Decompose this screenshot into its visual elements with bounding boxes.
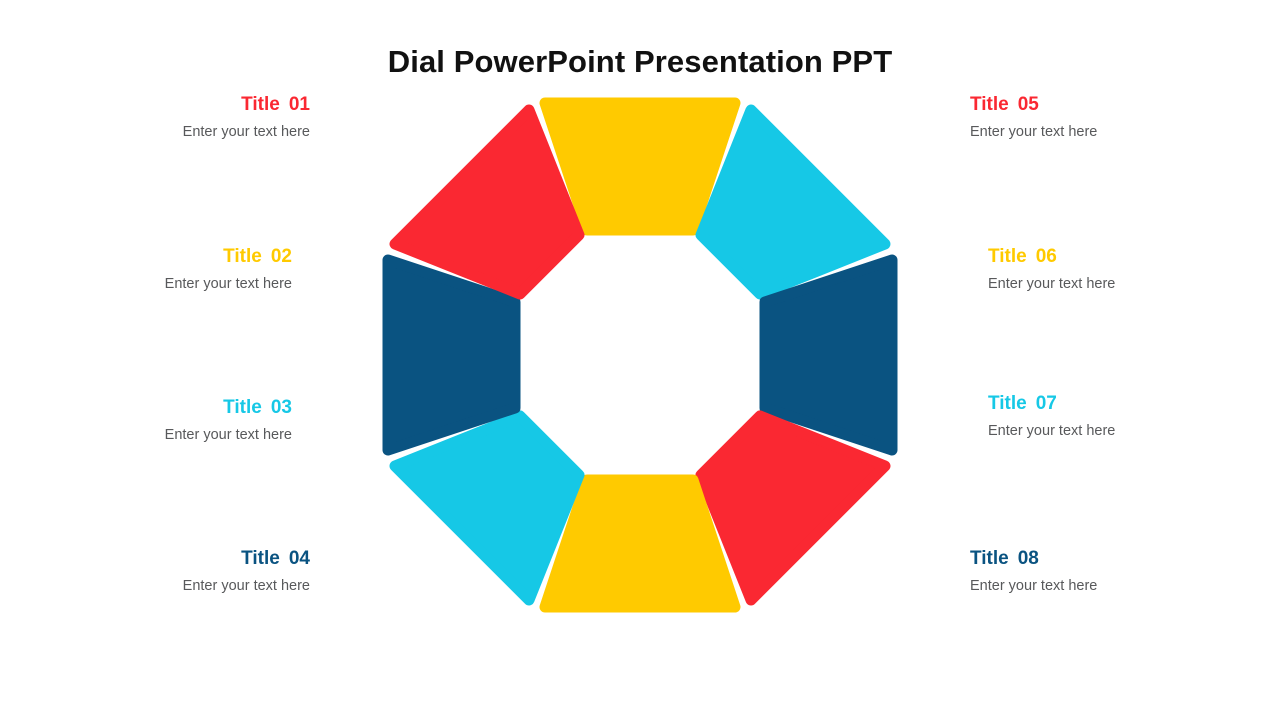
callout-title-06-text: Enter your text here (988, 277, 1278, 292)
callout-title-05[interactable]: Title05 Enter your text here (970, 95, 1260, 140)
callout-title-08-number: 08 (1018, 548, 1039, 569)
presentation-slide: Dial PowerPoint Presentation PPT (0, 0, 1280, 720)
callout-title-07-text: Enter your text here (988, 424, 1278, 439)
callout-title-06-heading: Title06 (988, 247, 1278, 266)
callout-title-05-text: Enter your text here (970, 125, 1260, 140)
callout-title-01-heading: Title01 (20, 95, 310, 114)
callout-title-07-number: 07 (1036, 393, 1057, 414)
callout-title-06-number: 06 (1036, 246, 1057, 267)
callout-title-01-number: 01 (289, 94, 310, 115)
callout-title-08-text: Enter your text here (970, 579, 1260, 594)
callout-title-02-number: 02 (271, 246, 292, 267)
dial-segments (388, 103, 892, 607)
callout-title-08-word: Title (970, 548, 1009, 569)
callout-title-06[interactable]: Title06 Enter your text here (988, 247, 1278, 292)
callout-title-02-heading: Title02 (2, 247, 292, 266)
callout-title-02[interactable]: Title02 Enter your text here (2, 247, 292, 292)
callout-title-01-text: Enter your text here (20, 125, 310, 140)
page-title: Dial PowerPoint Presentation PPT (0, 44, 1280, 80)
callout-title-03-number: 03 (271, 397, 292, 418)
callout-title-08[interactable]: Title08 Enter your text here (970, 549, 1260, 594)
callout-title-01[interactable]: Title01 Enter your text here (20, 95, 310, 140)
callout-title-05-word: Title (970, 94, 1009, 115)
callout-title-05-heading: Title05 (970, 95, 1260, 114)
callout-title-07-heading: Title07 (988, 394, 1278, 413)
callout-title-02-word: Title (223, 246, 262, 267)
callout-title-04-number: 04 (289, 548, 310, 569)
callout-title-01-word: Title (241, 94, 280, 115)
callout-title-03-word: Title (223, 397, 262, 418)
callout-title-04-word: Title (241, 548, 280, 569)
callout-title-03-heading: Title03 (2, 398, 292, 417)
callout-title-08-heading: Title08 (970, 549, 1260, 568)
callout-title-07[interactable]: Title07 Enter your text here (988, 394, 1278, 439)
callout-title-04-text: Enter your text here (20, 579, 310, 594)
callout-title-05-number: 05 (1018, 94, 1039, 115)
callout-title-02-text: Enter your text here (2, 277, 292, 292)
callout-title-04-heading: Title04 (20, 549, 310, 568)
callout-title-03-text: Enter your text here (2, 428, 292, 443)
callout-title-03[interactable]: Title03 Enter your text here (2, 398, 292, 443)
callout-title-07-word: Title (988, 393, 1027, 414)
octagon-dial-diagram (375, 90, 905, 620)
callout-title-04[interactable]: Title04 Enter your text here (20, 549, 310, 594)
callout-title-06-word: Title (988, 246, 1027, 267)
